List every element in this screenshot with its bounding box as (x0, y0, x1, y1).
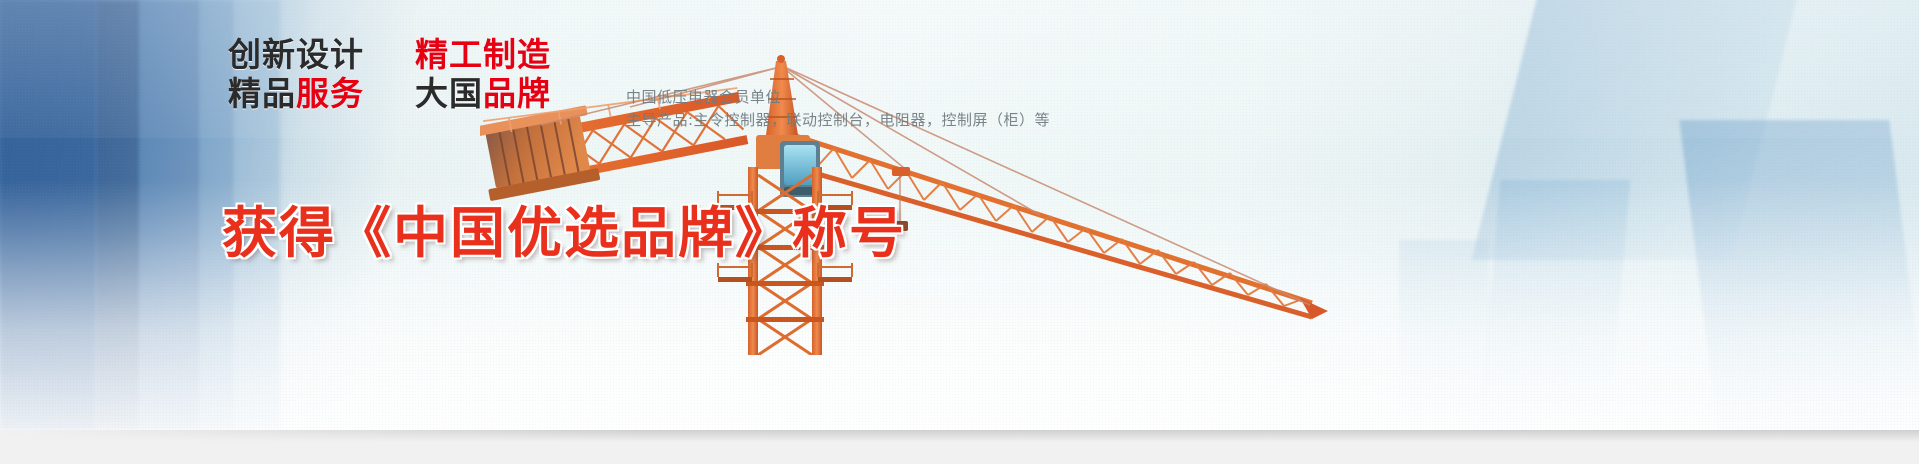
glass-tower-4 (1399, 240, 1489, 430)
subtext-line-1: 中国低压电器会员单位 (626, 86, 1050, 109)
slogan-seg-5: 大国 (415, 74, 483, 113)
background-building-3 (140, 0, 200, 430)
background-building-1 (0, 0, 96, 430)
glass-tower-3 (1478, 180, 1631, 430)
slogan-seg-2: 精工制造 (415, 35, 551, 74)
glass-tower-2 (1679, 120, 1919, 430)
slogan-line-2: 精品服务 大国品牌 (228, 77, 551, 112)
hero-banner: 创新设计 精工制造 精品服务 大国品牌 中国低压电器会员单位 主导产品:主令控制… (0, 0, 1919, 430)
subtext-block: 中国低压电器会员单位 主导产品:主令控制器，联动控制台，电阻器，控制屏（柜）等 (626, 86, 1050, 133)
background-building-2 (96, 0, 140, 430)
bottom-strip (0, 430, 1919, 464)
slogan-seg-4: 服务 (296, 74, 364, 113)
subtext-line-2: 主导产品:主令控制器，联动控制台，电阻器，控制屏（柜）等 (626, 109, 1050, 132)
slogan-seg-3: 精品 (228, 74, 296, 113)
slogan-block: 创新设计 精工制造 精品服务 大国品牌 (228, 38, 551, 116)
headline-text: 获得《中国优选品牌》称号 (222, 188, 906, 268)
bottom-strip-shadow (0, 430, 1919, 442)
slogan-seg-1: 创新设计 (228, 35, 364, 74)
slogan-seg-6: 品牌 (483, 74, 551, 113)
slogan-line-1: 创新设计 精工制造 (228, 38, 551, 73)
